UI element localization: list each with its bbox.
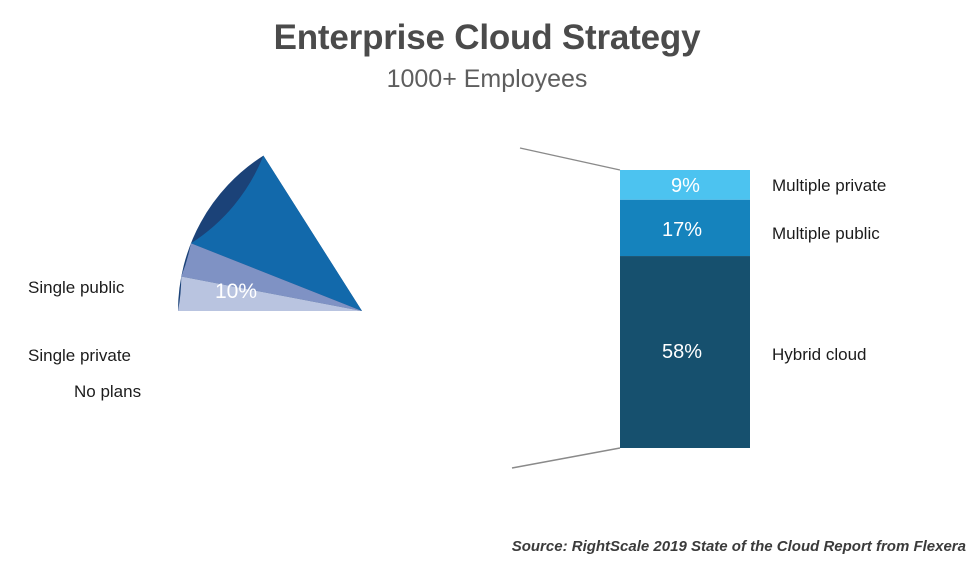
breakout-leader-lines <box>512 148 620 468</box>
chart-page: Enterprise Cloud Strategy 1000+ Employee… <box>0 0 974 572</box>
pie-slice-value-no-plans: 3% <box>221 353 248 375</box>
leader-line-top <box>520 148 620 170</box>
bar-label-multiple-private: Multiple private <box>772 176 886 196</box>
pie-chart <box>178 156 362 311</box>
pie-label-single-private: Single private <box>28 346 131 366</box>
pie-center-label: Multi-Cloud <box>368 276 510 308</box>
pie-label-no-plans: No plans <box>74 382 141 402</box>
bar-label-multiple-public: Multiple public <box>772 224 880 244</box>
bar-label-hybrid-cloud: Hybrid cloud <box>772 345 867 365</box>
bar-value-multiple-private: 9% <box>671 175 700 198</box>
pie-slice-value-single-public: 10% <box>215 280 257 304</box>
source-note: Source: RightScale 2019 State of the Clo… <box>512 538 966 555</box>
stacked-bar <box>620 170 750 448</box>
pie-center-value: 84% <box>404 323 460 355</box>
pie-slice-value-single-private: 3% <box>208 327 235 349</box>
bar-value-hybrid-cloud: 58% <box>662 341 702 364</box>
bar-value-multiple-public: 17% <box>662 219 702 242</box>
pie-label-single-public: Single public <box>28 278 124 298</box>
leader-line-bottom <box>512 448 620 468</box>
